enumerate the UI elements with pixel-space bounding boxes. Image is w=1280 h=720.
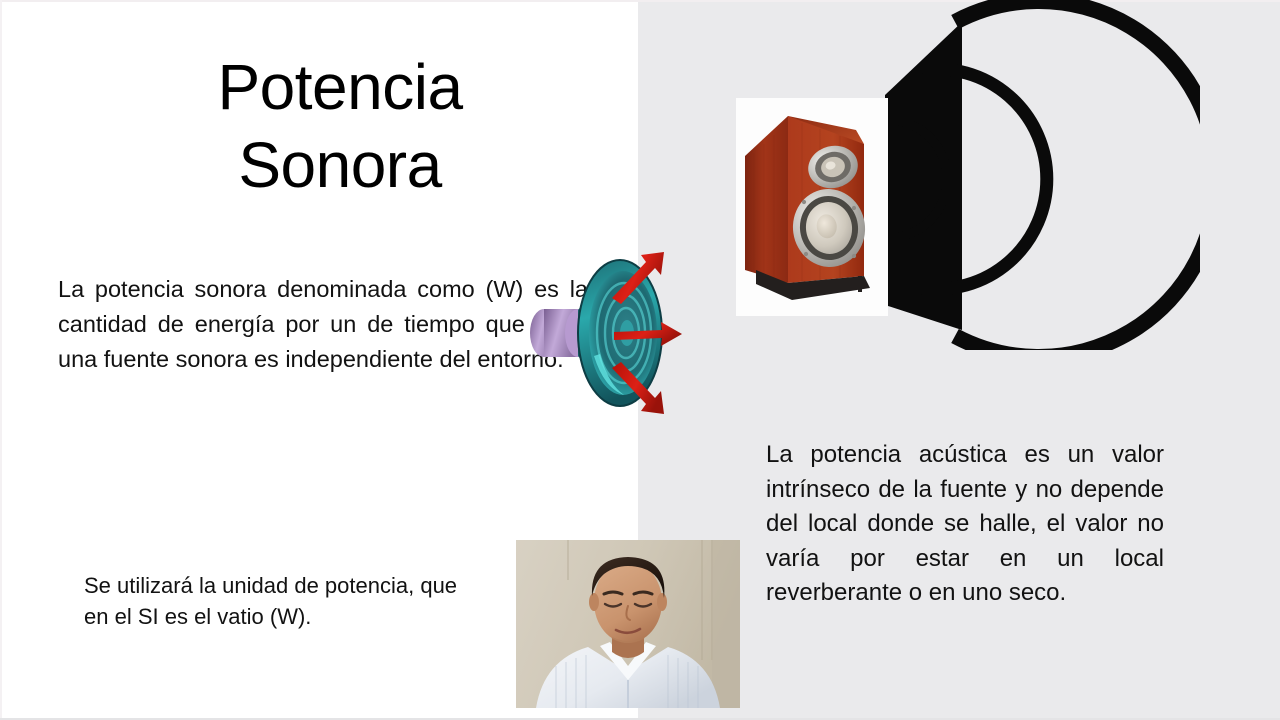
presentation-slide: Potencia Sonora La potencia sonora denom… — [0, 0, 1280, 720]
wall-right-panel — [712, 540, 740, 708]
speaker-spike — [858, 276, 862, 292]
acoustic-power-paragraph: La potencia acústica es un valor intríns… — [766, 438, 1164, 611]
slide-left-border — [0, 0, 2, 720]
sound-wave-arc-outer — [955, 1, 1200, 350]
definition-paragraph: La potencia sonora denominada como (W) e… — [58, 272, 588, 376]
slide-title: Potencia Sonora — [60, 48, 620, 204]
unit-paragraph: Se utilizará la unidad de potencia, que … — [84, 570, 484, 632]
presenter-webcam-video[interactable] — [516, 540, 740, 708]
teal-speaker-cone-clipart — [528, 238, 710, 420]
presenter-ear-left — [589, 593, 599, 611]
presenter-ear-right — [657, 593, 667, 611]
wooden-loudspeaker-photo — [736, 98, 888, 316]
